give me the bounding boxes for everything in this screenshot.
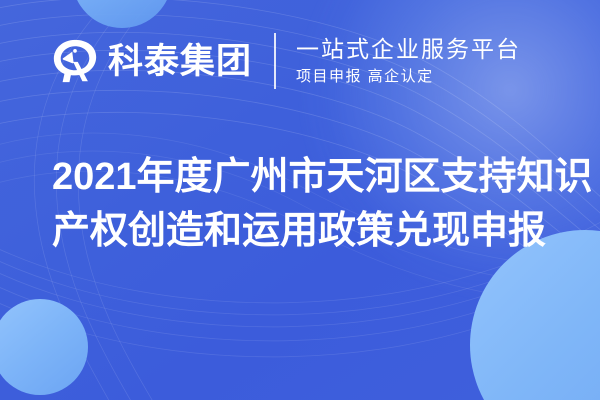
- decor-circle-top: [72, 0, 172, 28]
- promo-banner: 科泰集团 一站式企业服务平台 项目申报 高企认定 2021年度广州市天河区支持知…: [0, 0, 600, 400]
- ketai-logo-icon: [52, 38, 98, 84]
- tagline-block: 一站式企业服务平台 项目申报 高企认定: [296, 36, 521, 85]
- page-title-line-2: 产权创造和运用政策兑现申报: [52, 204, 568, 258]
- tagline-sub: 项目申报 高企认定: [296, 68, 521, 86]
- brand-name: 科泰集团: [108, 44, 252, 79]
- page-title-line-1: 2021年度广州市天河区支持知识: [52, 150, 568, 204]
- header-divider: [274, 33, 276, 89]
- tagline-main: 一站式企业服务平台: [296, 36, 521, 63]
- page-title: 2021年度广州市天河区支持知识 产权创造和运用政策兑现申报: [52, 150, 568, 258]
- decor-circle-bottom-left: [0, 299, 88, 395]
- banner-header: 科泰集团 一站式企业服务平台 项目申报 高企认定: [52, 30, 521, 92]
